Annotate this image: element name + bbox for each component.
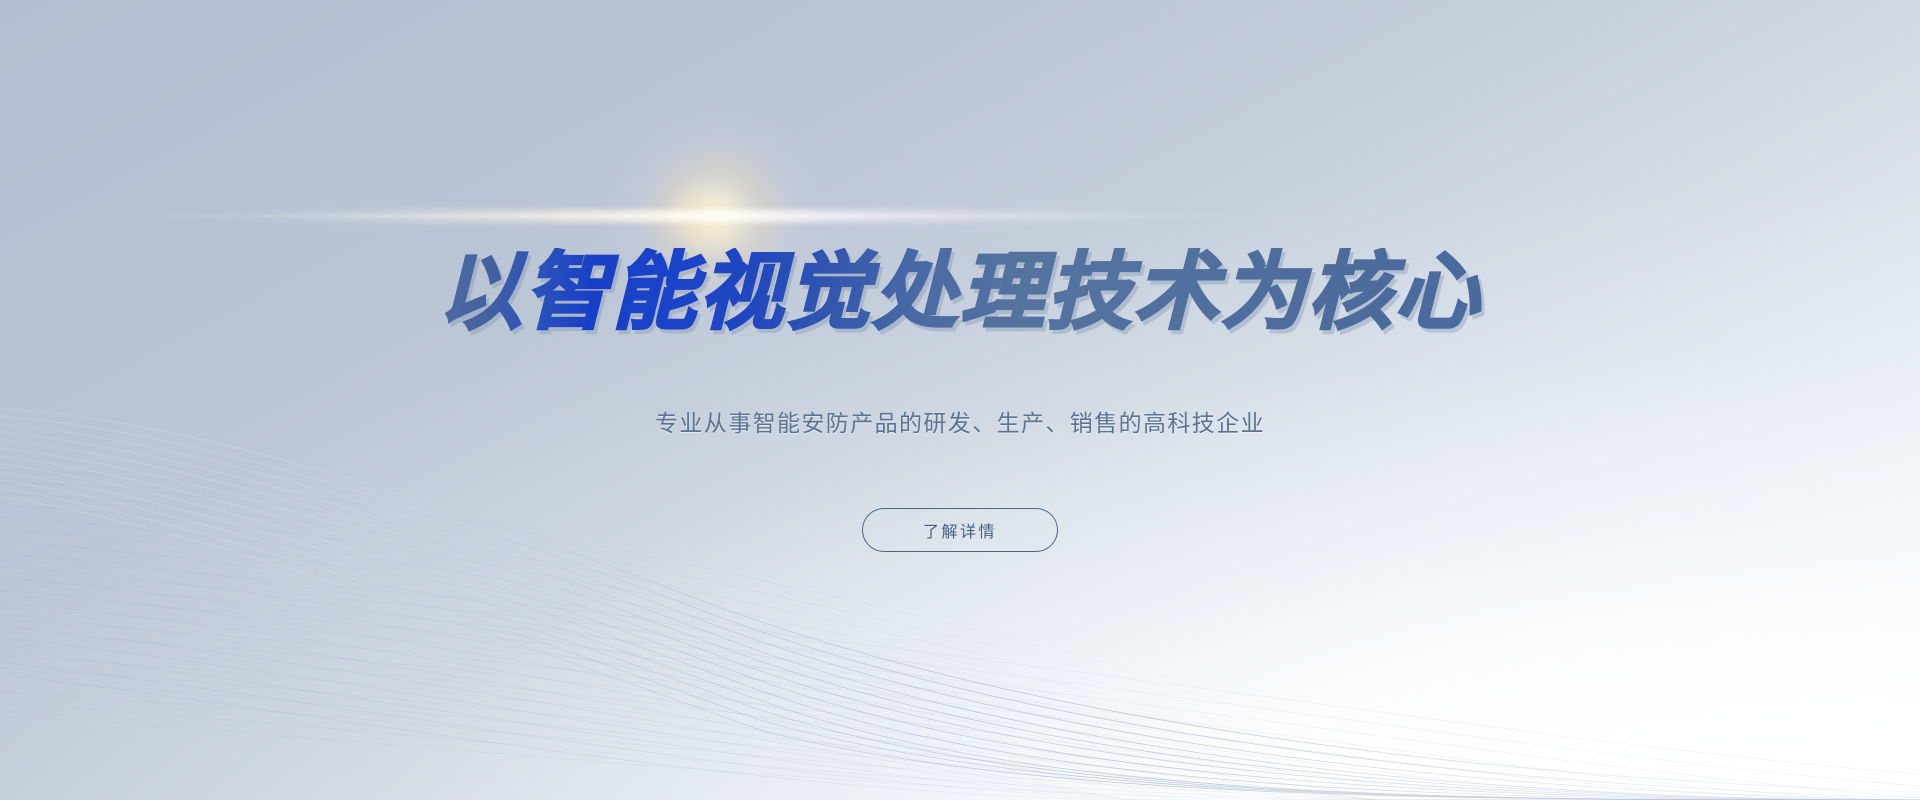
learn-more-button[interactable]: 了解详情 (862, 508, 1058, 552)
hero-subtitle: 专业从事智能安防产品的研发、生产、销售的高科技企业 (655, 404, 1265, 438)
page-title: 以智能视觉处理技术为核心 (438, 248, 1482, 336)
hero-banner: 以智能视觉处理技术为核心 专业从事智能安防产品的研发、生产、销售的高科技企业 了… (0, 0, 1920, 800)
hero-content: 以智能视觉处理技术为核心 专业从事智能安防产品的研发、生产、销售的高科技企业 了… (0, 0, 1920, 800)
